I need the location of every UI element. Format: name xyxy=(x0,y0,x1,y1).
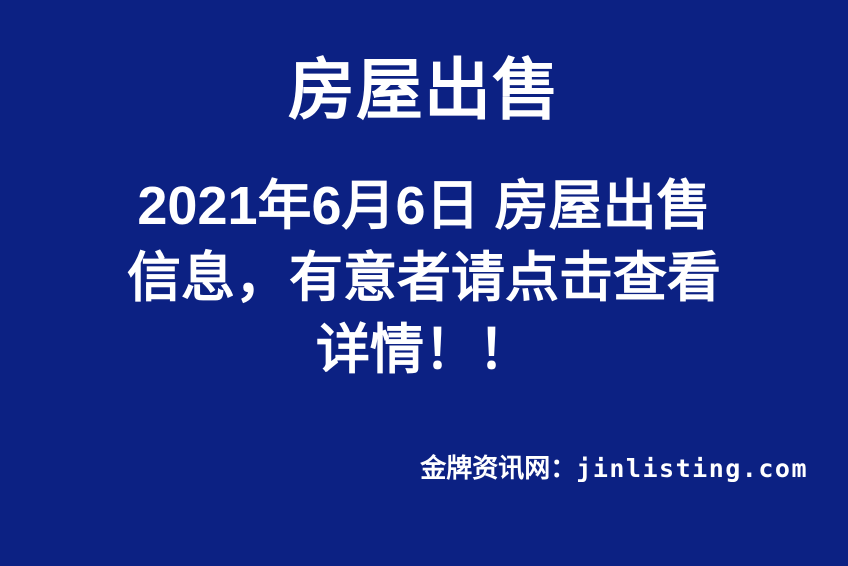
watermark-url: jinlisting.com xyxy=(576,454,808,483)
watermark-label: 金牌资讯网： xyxy=(420,453,576,483)
poster-canvas: 房屋出售 2021年6月6日 房屋出售 信息，有意者请点击查看 详情！！ 金牌资… xyxy=(0,0,848,566)
watermark: 金牌资讯网：jinlisting.com xyxy=(420,448,808,485)
announcement-body: 2021年6月6日 房屋出售 信息，有意者请点击查看 详情！！ xyxy=(0,170,848,386)
title-block: 房屋出售 xyxy=(0,56,848,126)
body-line: 详情！！ xyxy=(0,314,848,386)
body-line: 信息，有意者请点击查看 xyxy=(0,242,848,314)
page-title: 房屋出售 xyxy=(288,56,560,126)
body-line: 2021年6月6日 房屋出售 xyxy=(0,170,848,242)
